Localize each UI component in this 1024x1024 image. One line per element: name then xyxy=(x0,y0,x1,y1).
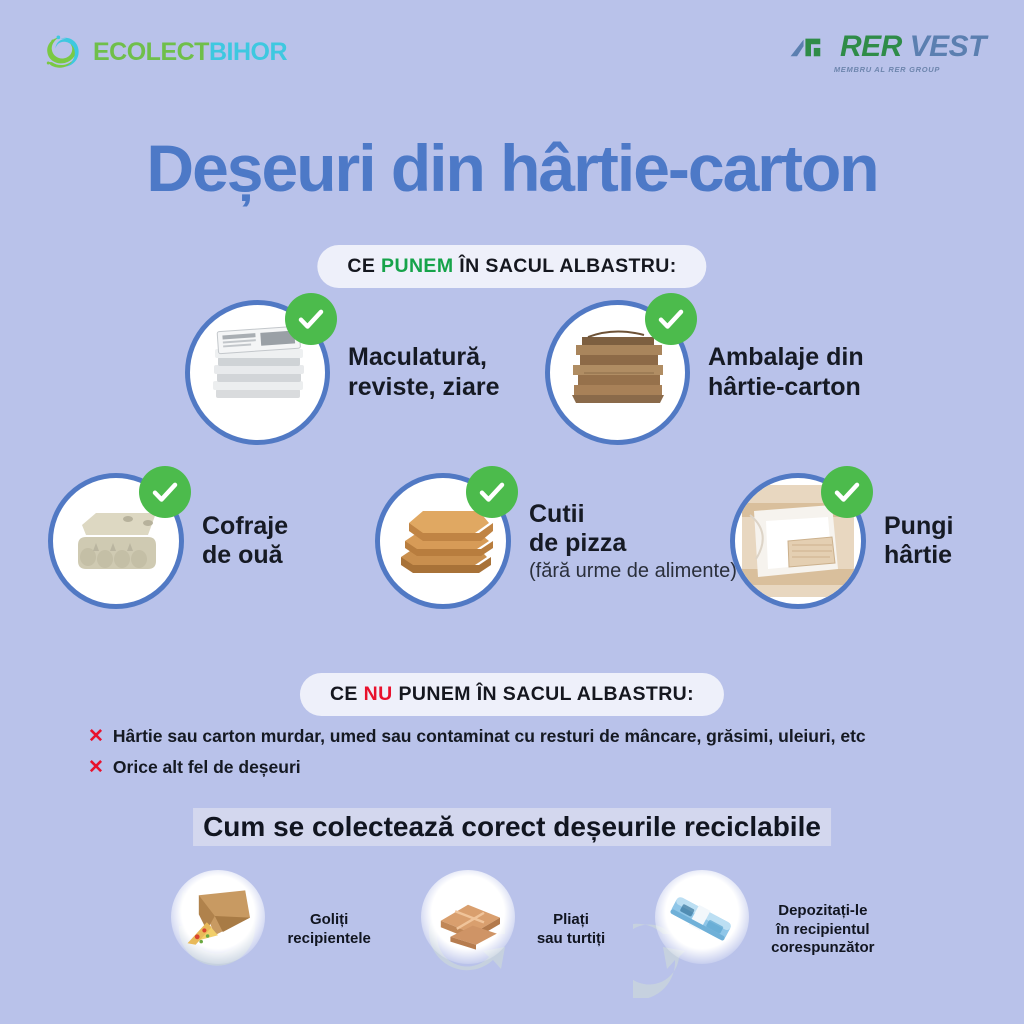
reject-banner-highlight: NU xyxy=(364,683,393,705)
check-badge xyxy=(139,466,191,518)
step-label: Pliați sau turtiți xyxy=(537,911,605,949)
rejected-item: ✕ Hârtie sau carton murdar, umed sau con… xyxy=(88,727,866,748)
flattened-cardboard-icon xyxy=(427,884,509,956)
rer-arrow-icon xyxy=(788,34,834,60)
step-label-line1: Depozitați-le xyxy=(778,902,867,919)
step-label-line1: Pliați xyxy=(553,911,589,928)
howto-title: Cum se colectează corect deșeurile recic… xyxy=(193,808,831,846)
item-label-note: (fără urme de alimente) xyxy=(529,560,737,583)
accept-banner: CE PUNEM ÎN SACUL ALBASTRU: xyxy=(317,245,706,288)
check-badge xyxy=(821,466,873,518)
check-icon xyxy=(150,477,180,507)
item-label-line1: Pungi xyxy=(884,512,953,540)
pizza-box-empty-icon xyxy=(177,884,259,956)
item-label-line2: reviste, ziare xyxy=(348,373,500,401)
reject-banner: CE NU PUNEM ÎN SACUL ALBASTRU: xyxy=(300,673,724,716)
accept-banner-highlight: PUNEM xyxy=(381,255,453,277)
rer-vest-logo: RER VEST MEMBRU AL RER GROUP xyxy=(788,30,986,74)
rejected-list: ✕ Hârtie sau carton murdar, umed sau con… xyxy=(88,727,866,789)
accepted-item: Cofraje de ouă xyxy=(48,473,288,609)
ecolect-wordmark: ECOLECTBIHOR xyxy=(93,38,287,67)
reject-banner-after: PUNEM ÎN SACUL ALBASTRU: xyxy=(393,683,694,705)
rejected-item-text: Hârtie sau carton murdar, umed sau conta… xyxy=(113,727,866,746)
step-label-line3: corespunzător xyxy=(771,939,874,956)
check-icon xyxy=(296,304,326,334)
accepted-item: Pungi hârtie xyxy=(730,473,953,609)
check-icon xyxy=(656,304,686,334)
accept-banner-before: CE xyxy=(347,255,381,277)
step-label-line2: în recipientul xyxy=(776,921,869,938)
item-label-line1: Cutii xyxy=(529,500,585,528)
check-badge xyxy=(285,293,337,345)
ecolect-bihor-logo: ECOLECTBIHOR xyxy=(40,30,287,74)
howto-steps: Goliți recipientele Pli xyxy=(0,862,1024,998)
page-title: Deșeuri din hârtie-carton xyxy=(0,130,1024,206)
rejected-item: ✕ Orice alt fel de deșeuri xyxy=(88,758,866,779)
rejected-item-text: Orice alt fel de deșeuri xyxy=(113,758,301,777)
rer-subtitle: MEMBRU AL RER GROUP xyxy=(788,65,986,74)
item-label: Ambalaje din hârtie-carton xyxy=(708,343,864,402)
blue-recycling-bag-icon xyxy=(661,884,743,956)
accepted-item: Cutii de pizza (fără urme de alimente) xyxy=(375,473,737,609)
ecolect-swirl-icon xyxy=(40,30,84,74)
item-label-line1: Maculatură, xyxy=(348,343,487,371)
check-icon xyxy=(477,477,507,507)
howto-step: Pliați sau turtiți xyxy=(399,862,605,998)
step-label: Depozitați-le în recipientul corespunzăt… xyxy=(771,902,874,958)
item-label-line2: de pizza xyxy=(529,529,626,557)
ecolect-word-2: BIHOR xyxy=(209,38,287,66)
reject-banner-before: CE xyxy=(330,683,364,705)
howto-step: Goliți recipientele xyxy=(149,862,370,998)
item-label-line2: de ouă xyxy=(202,541,283,569)
infographic-page: ECOLECTBIHOR RER VEST MEMBRU AL RER GROU… xyxy=(0,0,1024,1024)
accepted-item: Maculatură, reviste, ziare xyxy=(185,300,500,445)
check-badge xyxy=(466,466,518,518)
accepted-item: Ambalaje din hârtie-carton xyxy=(545,300,864,445)
ecolect-word-1: ECOLECT xyxy=(93,38,209,66)
x-icon: ✕ xyxy=(88,727,104,748)
step-label-line1: Goliți xyxy=(310,911,348,928)
item-label-line1: Cofraje xyxy=(202,512,288,540)
item-label: Cofraje de ouă xyxy=(202,512,288,571)
check-badge xyxy=(645,293,697,345)
check-icon xyxy=(832,477,862,507)
step-label-line2: recipientele xyxy=(287,930,370,947)
x-icon: ✕ xyxy=(88,758,104,779)
item-label-line2: hârtie-carton xyxy=(708,373,861,401)
step-label: Goliți recipientele xyxy=(287,911,370,949)
rer-word-1: RER xyxy=(840,30,902,63)
rer-word-2: VEST xyxy=(910,30,986,63)
item-label: Cutii de pizza (fără urme de alimente) xyxy=(529,500,737,583)
howto-step: Depozitați-le în recipientul corespunzăt… xyxy=(633,862,874,998)
step-label-line2: sau turtiți xyxy=(537,930,605,947)
item-label: Pungi hârtie xyxy=(884,512,953,571)
item-label-line2: hârtie xyxy=(884,541,952,569)
accept-banner-after: ÎN SACUL ALBASTRU: xyxy=(453,255,676,277)
item-label-line1: Ambalaje din xyxy=(708,343,864,371)
item-label: Maculatură, reviste, ziare xyxy=(348,343,500,402)
